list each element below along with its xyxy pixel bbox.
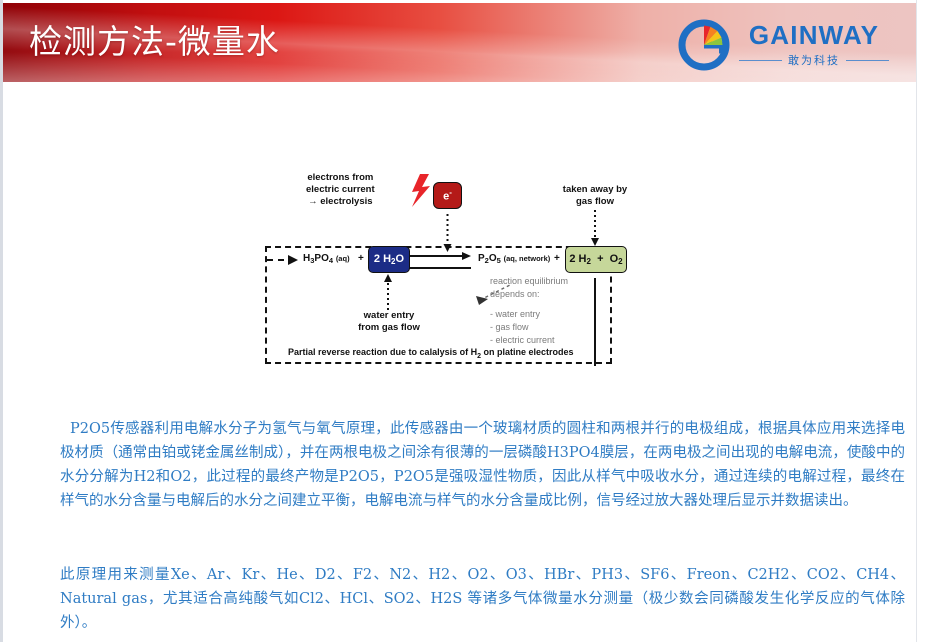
equilibrium-bullet1: - water entry: [490, 308, 568, 321]
water-box-label: 2 H2O: [374, 253, 404, 266]
gas-products-box: 2 H2 + O2: [565, 246, 627, 273]
brand-tagline: 敢为科技: [782, 52, 846, 68]
reverse-reaction-footer: Partial reverse reaction due to calalysi…: [288, 346, 574, 363]
tagline-dash-right: [846, 60, 889, 61]
brand-logo: GAINWAY 敢为科技: [678, 17, 894, 73]
brand-tagline-row: 敢为科技: [739, 52, 889, 68]
brand-text: GAINWAY 敢为科技: [739, 22, 889, 68]
water-entry-line1: water entry: [344, 310, 434, 322]
brand-wordmark: GAINWAY: [749, 22, 879, 48]
equilibrium-spacer: [490, 301, 568, 308]
paragraph-applicable-gases: 此原理用来测量Xe、Ar、Kr、He、D2、F2、N2、H2、O2、O3、HBr…: [60, 563, 905, 635]
electrolysis-reaction-diagram: electrons from electric current → electr…: [240, 160, 690, 380]
slide-header-banner: 检测方法-微量水 GAINWAY: [3, 3, 916, 82]
water-entry-label: water entry from gas flow: [344, 310, 434, 334]
paragraph-principle: P2O5传感器利用电解水分子为氢气与氧气原理，此传感器由一个玻璃材质的圆柱和两根…: [60, 417, 905, 513]
tagline-dash-left: [739, 60, 782, 61]
gainway-logo-icon: [678, 19, 730, 71]
slide-left-border: [0, 0, 3, 642]
water-box: 2 H2O: [368, 246, 410, 273]
equilibrium-callout: reaction equilibrium depends on: - water…: [490, 275, 568, 347]
equilibrium-line1: reaction equilibrium: [490, 275, 568, 288]
plus-sign-1: +: [358, 253, 364, 264]
slide-right-border: [916, 0, 917, 642]
plus-sign-2: +: [554, 253, 560, 264]
p2o5-product-label: P2O5 (aq, network): [478, 253, 550, 265]
equilibrium-bullet2: - gas flow: [490, 321, 568, 334]
equilibrium-line2: depends on:: [490, 288, 568, 301]
water-entry-line2: from gas flow: [344, 322, 434, 334]
page-title: 检测方法-微量水: [29, 15, 280, 63]
gas-products-label: 2 H2 + O2: [569, 253, 622, 266]
phosphoric-acid-label: H3PO4 (aq): [303, 253, 350, 265]
logo-mark-svg: [678, 19, 730, 71]
slide-canvas: 检测方法-微量水 GAINWAY: [0, 0, 932, 642]
